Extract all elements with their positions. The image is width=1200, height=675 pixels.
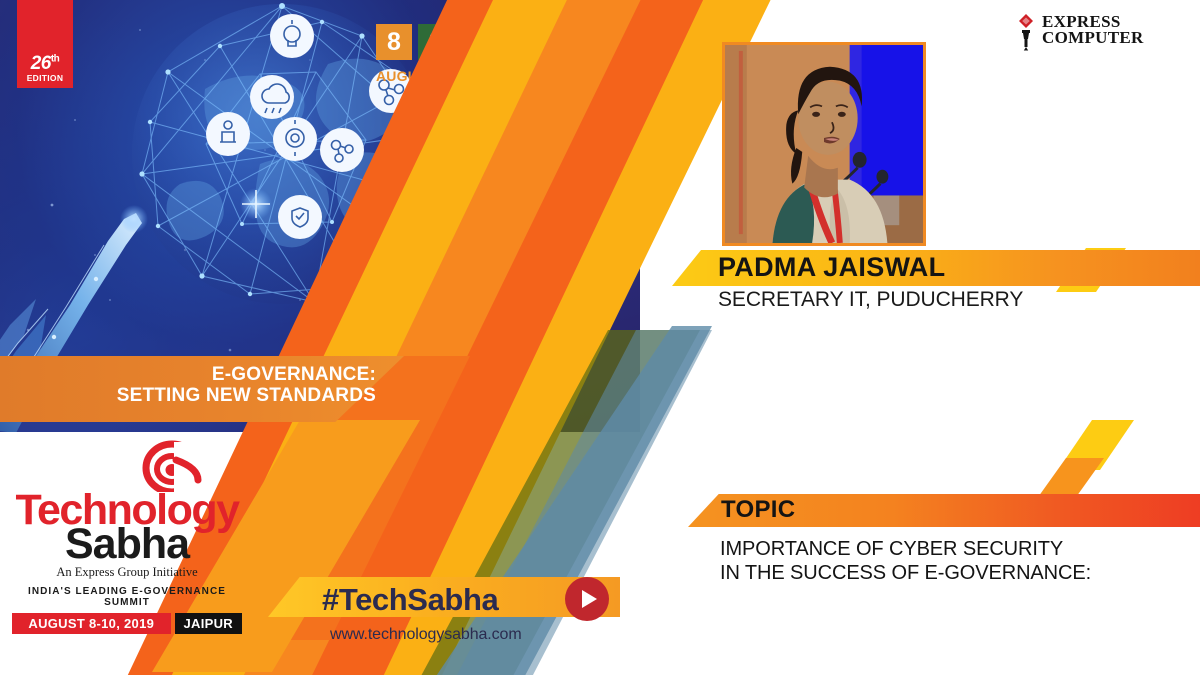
speaker-name: PADMA JAISWAL bbox=[718, 252, 945, 283]
express-computer-logo: EXPRESS COMPUTER bbox=[1016, 14, 1144, 52]
logo-tagline: INDIA'S LEADING E-GOVERNANCE SUMMIT bbox=[12, 586, 242, 608]
speaker-portrait bbox=[725, 45, 923, 243]
play-triangle bbox=[582, 590, 597, 608]
play-icon[interactable] bbox=[565, 577, 609, 621]
technology-sabha-logo: Technology Sabha An Express Group Initia… bbox=[12, 440, 242, 634]
poster-canvas: 26th EDITION 8 9 10 AUGUST 2019, JAIPUR bbox=[0, 0, 1200, 675]
website-url[interactable]: www.technologysabha.com bbox=[330, 626, 522, 644]
sabha-swirl-icon bbox=[12, 440, 242, 492]
logo-date-city-bar: AUGUST 8-10, 2019 JAIPUR bbox=[12, 613, 242, 634]
theme-line-1: E-GOVERNANCE: bbox=[0, 364, 376, 385]
hashtag-text: #TechSabha bbox=[322, 582, 498, 618]
theme-text: E-GOVERNANCE: SETTING NEW STANDARDS bbox=[0, 364, 376, 407]
speaker-photo-frame bbox=[722, 42, 926, 246]
express-diamond-pen-icon bbox=[1016, 14, 1036, 52]
theme-line-2: SETTING NEW STANDARDS bbox=[0, 385, 376, 406]
speaker-role: SECRETARY IT, PUDUCHERRY bbox=[718, 288, 1023, 312]
logo-city-badge: JAIPUR bbox=[175, 613, 242, 634]
topic-label: TOPIC bbox=[721, 496, 795, 524]
logo-subtitle: An Express Group Initiative bbox=[12, 565, 242, 580]
express-computer-wordmark: EXPRESS COMPUTER bbox=[1042, 14, 1144, 46]
logo-date-badge: AUGUST 8-10, 2019 bbox=[12, 613, 171, 634]
topic-line-2: IN THE SUCCESS OF E-GOVERNANCE: bbox=[720, 562, 1091, 585]
topic-line-1: IMPORTANCE OF CYBER SECURITY bbox=[720, 538, 1063, 561]
publisher-line-2: COMPUTER bbox=[1042, 30, 1144, 46]
